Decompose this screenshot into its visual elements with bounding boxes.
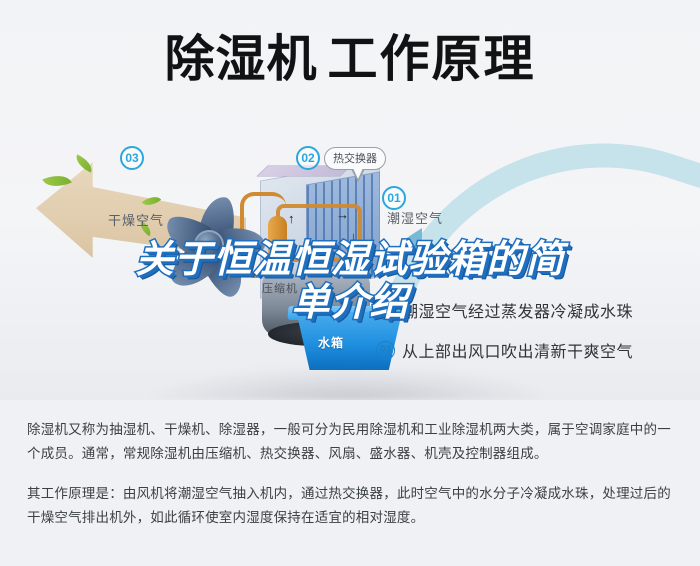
body-paragraph-two: 其工作原理是：由风机将潮湿空气抽入机内，通过热交换器，此时空气中的水分子冷凝成水… xyxy=(27,482,677,530)
diagram-badge-humid-air: 01 xyxy=(382,186,406,210)
heat-exchanger-callout: 热交换器 xyxy=(324,147,386,170)
bullet-text: 潮湿空气经过蒸发器冷凝成水珠 xyxy=(402,298,633,322)
bullet-badge: 02 xyxy=(376,301,395,320)
humid-air-label: 潮湿空气 xyxy=(387,208,443,227)
flow-arrow-up-icon: ↑ xyxy=(288,212,295,225)
principle-illustration: 除湿机工作原理 ↑ → ↓ xyxy=(0,0,700,400)
title-part-one: 除湿机 xyxy=(165,30,318,88)
fan-icon xyxy=(150,186,260,296)
diagram-badge-heat-exchanger: 02 xyxy=(296,146,320,170)
article-body: 除湿机又称为抽湿机、干燥机、除湿器，一般可分为民用除湿机和工业除湿机两大类，属于… xyxy=(27,418,677,530)
bullet-text: 从上部出风口吹出清新干爽空气 xyxy=(402,338,633,362)
list-item: 03 从上部出风口吹出清新干爽空气 xyxy=(376,338,633,362)
humid-air-arrow-tip-icon xyxy=(402,228,422,254)
bullet-badge: 03 xyxy=(376,341,395,360)
flow-arrow-down-icon: ↓ xyxy=(350,230,357,243)
illustration-canvas: 除湿机工作原理 ↑ → ↓ xyxy=(0,0,700,400)
list-item: 02 潮湿空气经过蒸发器冷凝成水珠 xyxy=(376,298,633,322)
fan-hub-icon xyxy=(194,230,224,260)
humid-air-arrow-icon xyxy=(408,128,688,278)
article-page: 除湿机工作原理 ↑ → ↓ xyxy=(0,0,700,566)
flow-arrow-right-icon: → xyxy=(336,208,349,221)
title-part-two: 工作原理 xyxy=(328,30,536,88)
illustration-drop-shadow xyxy=(150,366,550,400)
diagram-badge-dry-air: 03 xyxy=(120,146,144,170)
water-tank-label: 水箱 xyxy=(318,334,344,351)
body-paragraph-one: 除湿机又称为抽湿机、干燥机、除湿器，一般可分为民用除湿机和工业除湿机两大类，属于… xyxy=(27,418,677,466)
illustration-title: 除湿机工作原理 xyxy=(0,30,700,88)
dry-air-label: 干燥空气 xyxy=(108,210,164,229)
refrigerant-cylinder-icon xyxy=(268,216,287,260)
compressor-label: 压缩机 xyxy=(262,280,298,296)
